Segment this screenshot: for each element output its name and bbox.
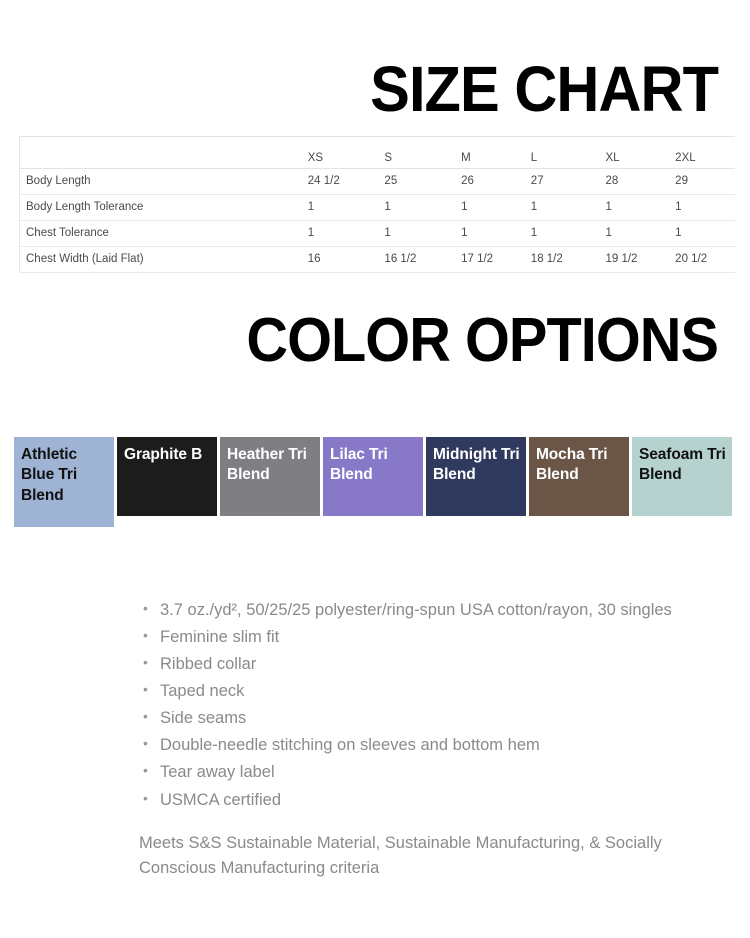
table-header-row: XS S M L XL 2XL: [20, 137, 736, 169]
color-options-heading: COLOR OPTIONS: [50, 310, 718, 372]
row-label: Body Length: [20, 169, 308, 195]
column-header-2xl: 2XL: [675, 137, 735, 169]
list-item: USMCA certified: [160, 788, 740, 813]
cell-2xl: 1: [675, 221, 735, 247]
color-swatch-label: Midnight Tri Blend: [433, 446, 520, 483]
cell-2xl: 20 1/2: [675, 247, 735, 273]
cell-xs: 1: [308, 221, 385, 247]
cell-l: 1: [531, 221, 606, 247]
size-chart-table-container: XS S M L XL 2XL Body Length 24 1/2 25 26…: [19, 136, 735, 273]
column-header-xs: XS: [308, 137, 385, 169]
cell-2xl: 29: [675, 169, 735, 195]
color-swatch-lilac-tri-blend[interactable]: Lilac Tri Blend: [323, 437, 423, 516]
cell-xl: 19 1/2: [605, 247, 675, 273]
list-item: Double-needle stitching on sleeves and b…: [160, 733, 740, 758]
column-header-measurement: [20, 137, 308, 169]
list-item: Tear away label: [160, 760, 740, 785]
list-item: Feminine slim fit: [160, 625, 740, 650]
cell-s: 25: [384, 169, 461, 195]
size-chart-heading: SIZE CHART: [50, 57, 718, 121]
cell-xl: 1: [605, 221, 675, 247]
row-label: Body Length Tolerance: [20, 195, 308, 221]
cell-2xl: 1: [675, 195, 735, 221]
color-swatch-athletic-blue-tri-blend[interactable]: Athletic Blue Tri Blend: [14, 437, 114, 527]
list-item: 3.7 oz./yd², 50/25/25 polyester/ring-spu…: [160, 598, 740, 623]
cell-m: 26: [461, 169, 531, 195]
list-item: Side seams: [160, 706, 740, 731]
cell-s: 16 1/2: [384, 247, 461, 273]
size-chart-table-body: Body Length 24 1/2 25 26 27 28 29 Body L…: [20, 169, 736, 273]
color-swatch-seafoam-tri-blend[interactable]: Seafoam Tri Blend: [632, 437, 732, 516]
table-row: Chest Tolerance 1 1 1 1 1 1: [20, 221, 736, 247]
cell-s: 1: [384, 195, 461, 221]
column-header-xl: XL: [605, 137, 675, 169]
cell-xl: 1: [605, 195, 675, 221]
cell-xs: 24 1/2: [308, 169, 385, 195]
column-header-l: L: [531, 137, 606, 169]
sustainability-note: Meets S&S Sustainable Material, Sustaina…: [139, 831, 729, 881]
cell-m: 17 1/2: [461, 247, 531, 273]
color-swatch-label: Seafoam Tri Blend: [639, 446, 726, 483]
table-row: Chest Width (Laid Flat) 16 16 1/2 17 1/2…: [20, 247, 736, 273]
cell-s: 1: [384, 221, 461, 247]
column-header-m: M: [461, 137, 531, 169]
color-swatch-graphite-b[interactable]: Graphite B: [117, 437, 217, 516]
row-label: Chest Width (Laid Flat): [20, 247, 308, 273]
product-feature-list: 3.7 oz./yd², 50/25/25 polyester/ring-spu…: [139, 598, 740, 815]
color-swatch-label: Heather Tri Blend: [227, 446, 307, 483]
size-chart-table: XS S M L XL 2XL Body Length 24 1/2 25 26…: [19, 136, 735, 273]
cell-m: 1: [461, 195, 531, 221]
cell-xs: 1: [308, 195, 385, 221]
list-item: Ribbed collar: [160, 652, 740, 677]
color-swatch-mocha-tri-blend[interactable]: Mocha Tri Blend: [529, 437, 629, 516]
color-swatch-label: Mocha Tri Blend: [536, 446, 607, 483]
color-swatch-label: Lilac Tri Blend: [330, 446, 388, 483]
color-swatch-heather-tri-blend[interactable]: Heather Tri Blend: [220, 437, 320, 516]
cell-xl: 28: [605, 169, 675, 195]
column-header-s: S: [384, 137, 461, 169]
cell-l: 1: [531, 195, 606, 221]
cell-xs: 16: [308, 247, 385, 273]
color-swatch-list: Athletic Blue Tri Blend Graphite B Heath…: [14, 437, 736, 527]
table-row: Body Length Tolerance 1 1 1 1 1 1: [20, 195, 736, 221]
color-swatch-midnight-tri-blend[interactable]: Midnight Tri Blend: [426, 437, 526, 516]
list-item: Taped neck: [160, 679, 740, 704]
color-swatch-label: Graphite B: [124, 446, 202, 463]
cell-l: 27: [531, 169, 606, 195]
size-chart-table-head: XS S M L XL 2XL: [20, 137, 736, 169]
table-row: Body Length 24 1/2 25 26 27 28 29: [20, 169, 736, 195]
color-swatch-label: Athletic Blue Tri Blend: [21, 446, 77, 504]
row-label: Chest Tolerance: [20, 221, 308, 247]
cell-m: 1: [461, 221, 531, 247]
cell-l: 18 1/2: [531, 247, 606, 273]
